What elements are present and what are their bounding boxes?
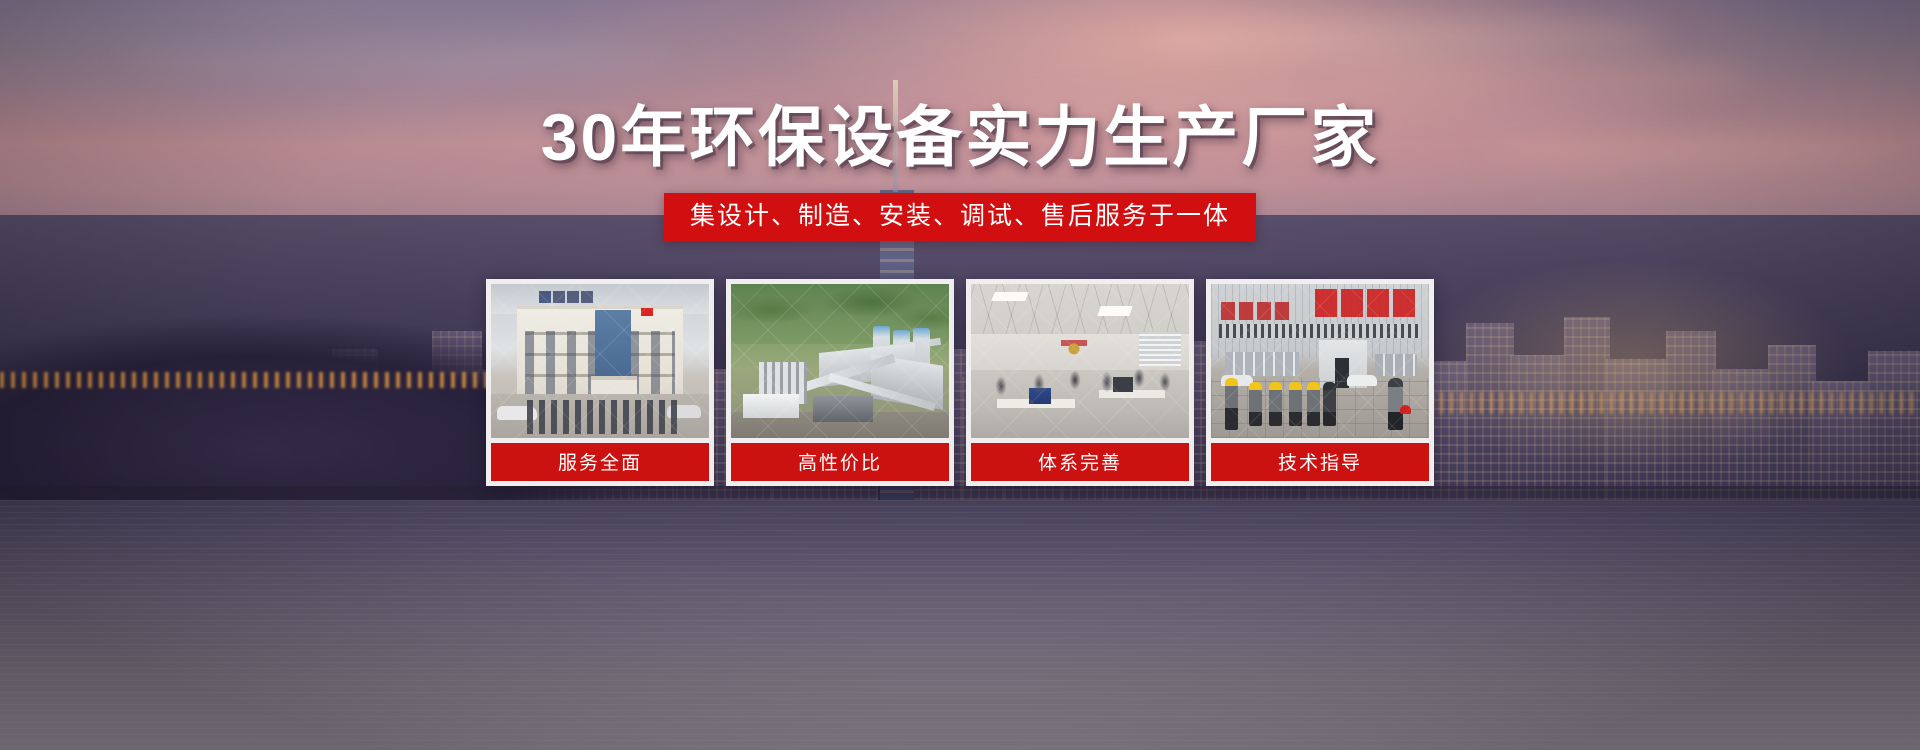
workshop-training-photo [1211,284,1429,438]
feature-card[interactable]: 高性价比 [726,279,954,486]
feature-card[interactable]: 服务全面 [486,279,714,486]
banner-subtitle-badge: 集设计、制造、安装、调试、售后服务于一体 [664,193,1256,241]
feature-card-label: 体系完善 [971,443,1189,481]
instructor-figure [1388,378,1403,430]
office-interior-photo [971,284,1189,438]
red-helmet-icon [1400,405,1411,414]
worker-figure [1307,382,1320,426]
worker-figure [1289,382,1302,426]
office-staff [987,364,1177,404]
company-logo-sign [539,291,625,303]
flag-icon [641,308,653,316]
feature-card-label: 技术指导 [1211,443,1429,481]
banner-subtitle: 集设计、制造、安装、调试、售后服务于一体 [690,202,1230,231]
banner-content: 30年环保设备实力生产厂家 集设计、制造、安装、调试、售后服务于一体 [0,0,1920,750]
feature-card[interactable]: 技术指导 [1206,279,1434,486]
worker-figure [1323,382,1336,426]
feature-card[interactable]: 体系完善 [966,279,1194,486]
feature-card-list: 服务全面 [486,279,1434,486]
banner-headline: 30年环保设备实力生产厂家 [541,104,1379,170]
worker-figure [1269,382,1282,426]
feature-card-label: 服务全面 [491,443,709,481]
factory-banner-sign [1315,289,1423,317]
factory-slogan-sign [1221,302,1299,320]
wall-emblem-icon [1061,340,1087,362]
office-building-staff-photo [491,284,709,438]
worker-figure [1225,378,1238,430]
feature-card-label: 高性价比 [731,443,949,481]
staff-lineup [527,400,679,434]
hero-banner: 30年环保设备实力生产厂家 集设计、制造、安装、调试、售后服务于一体 [0,0,1920,750]
aerial-plant-photo [731,284,949,438]
worker-figure [1249,382,1262,426]
